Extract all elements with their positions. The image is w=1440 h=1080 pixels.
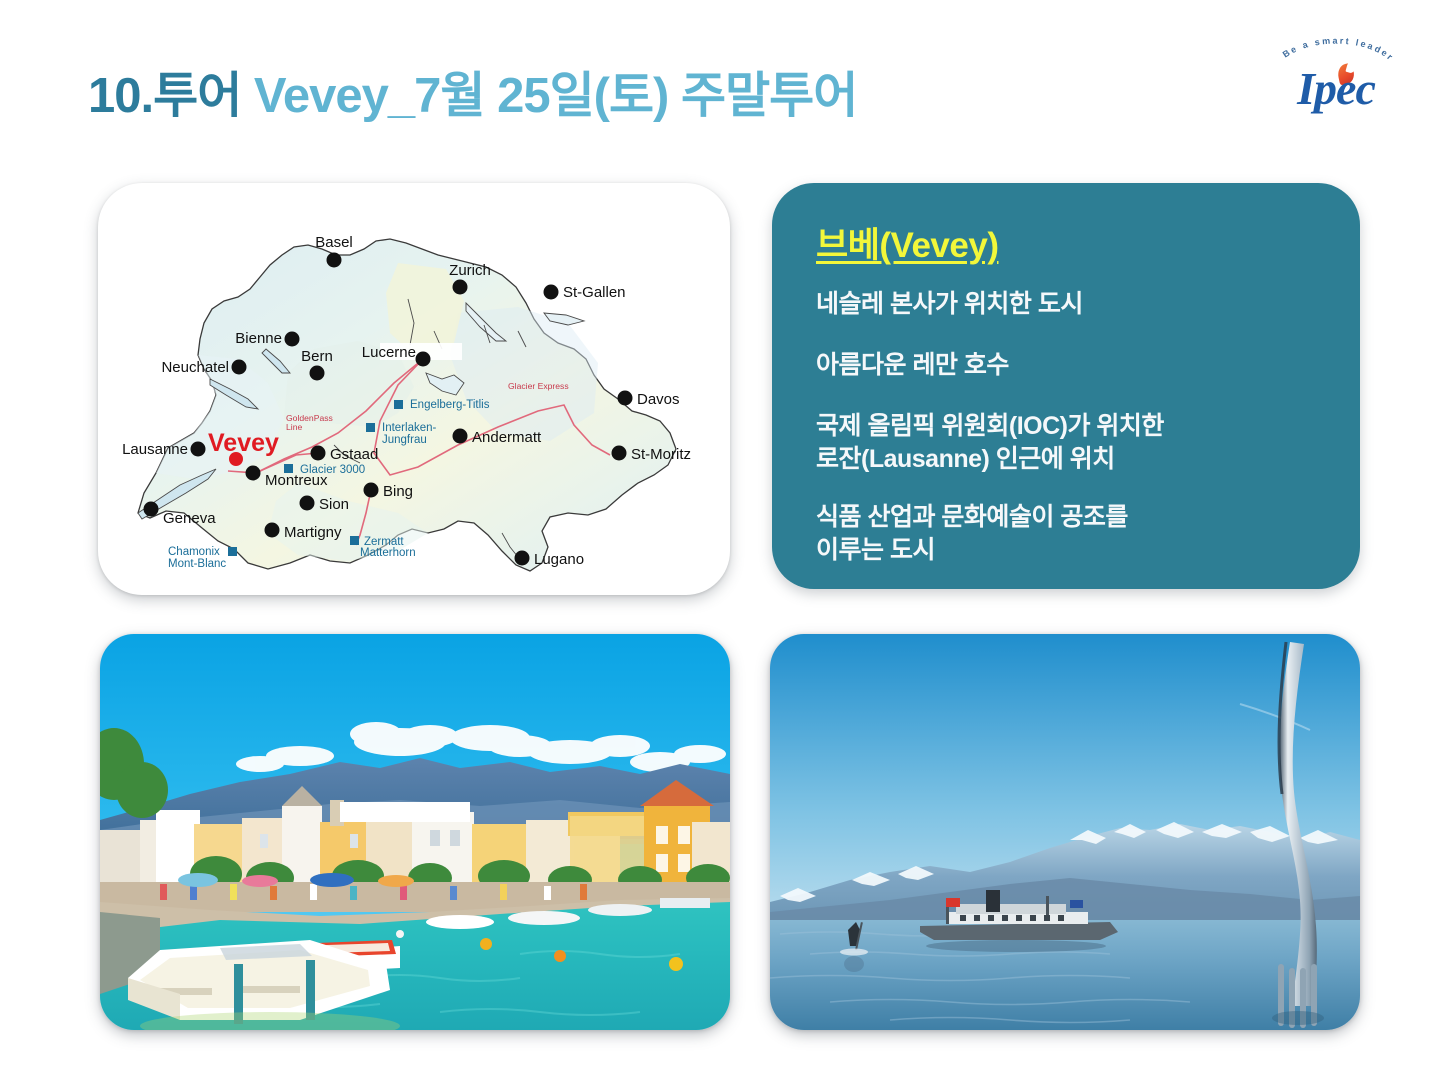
city-label-bienne: Bienne bbox=[235, 330, 282, 347]
city-dot-bienne bbox=[285, 332, 300, 347]
city-dot-martigny bbox=[265, 523, 280, 538]
steamer-funnel bbox=[986, 890, 1000, 912]
buoy-4 bbox=[396, 930, 404, 938]
city-label-davos: Davos bbox=[637, 391, 680, 408]
page-title: 10.투어 Vevey_7월 25일(토) 주말투어 bbox=[88, 70, 857, 124]
mooring-post-2 bbox=[306, 960, 315, 1020]
city-dot-geneva bbox=[144, 502, 159, 517]
city-label-lucerne: Lucerne bbox=[362, 344, 416, 361]
rail-label-glacier-express: Glacier Express bbox=[508, 381, 569, 391]
city-label-lugano: Lugano bbox=[534, 551, 584, 568]
info-bullet-4: 식품 산업과 문화예술이 공조를 이루는 도시 bbox=[816, 501, 1128, 566]
swiss-flag bbox=[946, 898, 960, 907]
city-label-gstaad: Gstaad bbox=[330, 446, 378, 463]
city-dot-bern bbox=[310, 366, 325, 381]
city-dot-basel bbox=[327, 253, 342, 268]
buoy-3 bbox=[669, 957, 683, 971]
rail-label-goldenpass-1: Line bbox=[286, 422, 302, 432]
city-dot-zurich bbox=[453, 280, 468, 295]
city-dot-stgallen bbox=[544, 285, 559, 300]
photo-lake-geneva-fork-image bbox=[770, 634, 1360, 1030]
switzerland-map: GoldenPass Line Glacier Express Engelber… bbox=[98, 183, 730, 595]
resort-dot-interlaken bbox=[366, 423, 375, 432]
city-label-stmoritz: St-Moritz bbox=[631, 446, 691, 463]
photo-vevey-harbour[interactable] bbox=[100, 634, 730, 1030]
resort-dot-engelberg bbox=[394, 400, 403, 409]
steamer-reflection bbox=[926, 940, 1106, 952]
resort-label-interlaken-1: Jungfrau bbox=[382, 434, 427, 446]
vevey-info-panel: 브베(Vevey) 네슬레 본사가 위치한 도시 아름다운 레만 호수 국제 올… bbox=[772, 183, 1360, 589]
city-dot-stmoritz bbox=[612, 446, 627, 461]
fork-reflection bbox=[1272, 1011, 1324, 1025]
city-dot-gstaad bbox=[311, 446, 326, 461]
resort-label-engelberg: Engelberg-Titlis bbox=[410, 399, 490, 411]
slide-root: 10.투어 Vevey_7월 25일(토) 주말투어 Be a smart le… bbox=[0, 0, 1440, 1080]
ipec-logo: Be a smart leader Ipec bbox=[1272, 34, 1400, 120]
city-dot-neuchatel bbox=[232, 360, 247, 375]
page-title-main: Vevey_7월 25일(토) 주말투어 bbox=[254, 69, 857, 123]
city-label-vevey: Vevey bbox=[208, 429, 279, 457]
city-dot-bing bbox=[364, 483, 379, 498]
city-dot-lugano bbox=[515, 551, 530, 566]
resort-label-zermatt-1: Matterhorn bbox=[360, 547, 416, 559]
city-dot-lucerne bbox=[416, 352, 431, 367]
city-label-bing: Bing bbox=[383, 483, 413, 500]
switzerland-map-card[interactable]: GoldenPass Line Glacier Express Engelber… bbox=[98, 183, 730, 595]
resort-dot-chamonix bbox=[228, 547, 237, 556]
city-label-lausanne: Lausanne bbox=[122, 441, 188, 458]
resort-dot-zermatt bbox=[350, 536, 359, 545]
resort-label-chamonix-0: Chamonix bbox=[168, 546, 220, 558]
info-bullet-3: 국제 올림픽 위원회(IOC)가 위치한 로잔(Lausanne) 인근에 위치 bbox=[816, 410, 1164, 475]
city-label-andermatt: Andermatt bbox=[472, 429, 542, 446]
info-panel-heading: 브베(Vevey) bbox=[816, 217, 999, 268]
city-dot-lausanne bbox=[191, 442, 206, 457]
resort-label-interlaken-0: Interlaken- bbox=[382, 422, 437, 434]
city-label-neuchatel: Neuchatel bbox=[161, 359, 229, 376]
photo-vevey-harbour-image bbox=[100, 634, 730, 1030]
photo-lake-geneva-fork[interactable] bbox=[770, 634, 1360, 1030]
info-bullet-1: 네슬레 본사가 위치한 도시 bbox=[816, 288, 1083, 321]
city-label-martigny: Martigny bbox=[284, 524, 342, 541]
logo-tagline-text: Be a smart leader bbox=[1281, 36, 1396, 63]
page-title-index: 10.투어 bbox=[88, 69, 254, 123]
city-dot-sion bbox=[300, 496, 315, 511]
svg-text:Be a smart leader: Be a smart leader bbox=[1281, 36, 1396, 63]
city-dot-davos bbox=[618, 391, 633, 406]
city-label-geneva: Geneva bbox=[163, 510, 216, 527]
info-bullet-2: 아름다운 레만 호수 bbox=[816, 349, 1009, 382]
city-label-basel: Basel bbox=[315, 234, 353, 251]
logo-wordmark: Ipec bbox=[1272, 66, 1400, 112]
city-label-sion: Sion bbox=[319, 496, 349, 513]
city-label-montreux: Montreux bbox=[265, 472, 328, 489]
buoy-1 bbox=[480, 938, 492, 950]
city-dot-montreux bbox=[246, 466, 261, 481]
logo-tagline-arc: Be a smart leader bbox=[1272, 36, 1400, 66]
city-label-bern: Bern bbox=[301, 348, 333, 365]
french-flag bbox=[1070, 900, 1083, 908]
buoy-2 bbox=[554, 950, 566, 962]
city-label-zurich: Zurich bbox=[449, 262, 491, 279]
city-label-stgallen: St-Gallen bbox=[563, 284, 626, 301]
city-dot-andermatt bbox=[453, 429, 468, 444]
resort-label-chamonix-1: Mont-Blanc bbox=[168, 558, 226, 570]
